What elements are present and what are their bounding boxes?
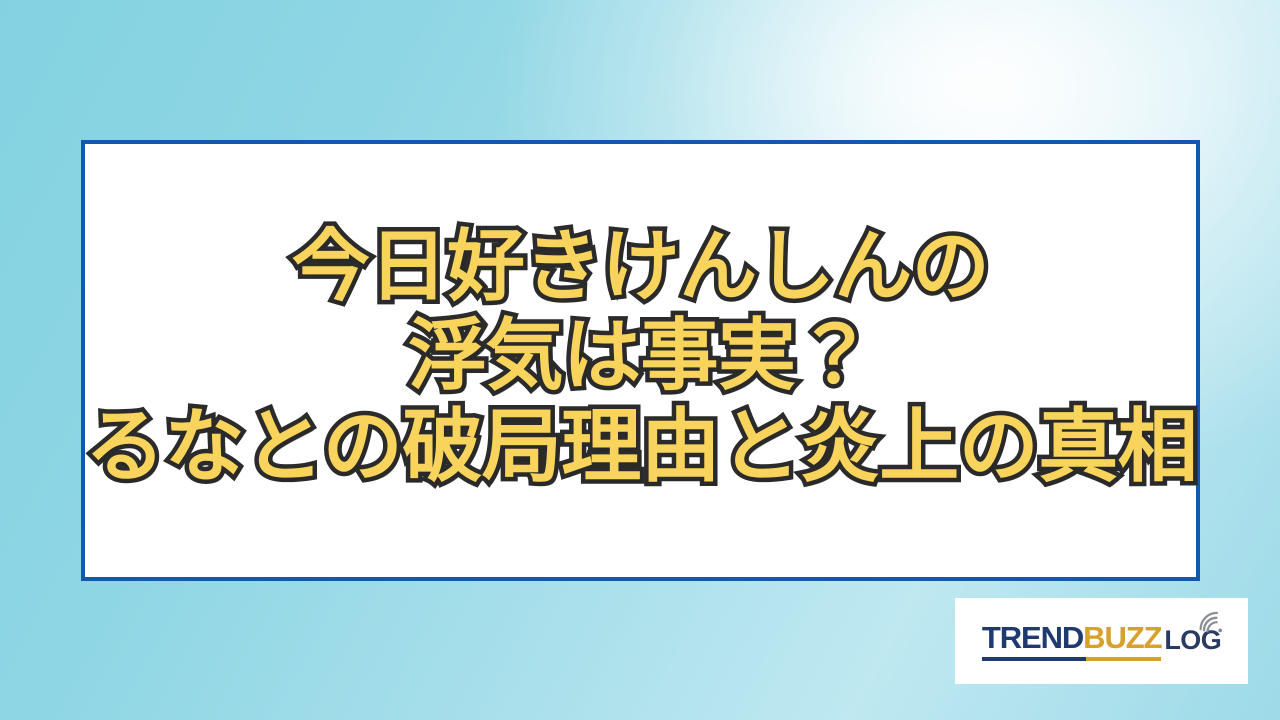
logo-wordmark-group: TRENDBUZZ: [982, 622, 1162, 661]
logo-wordmark: TRENDBUZZ: [982, 622, 1162, 653]
logo-underline-navy: [982, 657, 1086, 661]
page-title: 今日好きけんしんの 浮気は事実？ るなとの破局理由と炎上の真相: [85, 223, 1196, 498]
thumbnail-canvas: 今日好きけんしんの 浮気は事実？ るなとの破局理由と炎上の真相 TRENDBUZ…: [0, 0, 1280, 720]
wifi-signal-icon: [1198, 607, 1228, 633]
signal-dot: [1218, 628, 1222, 632]
logo-word-trend: TREND: [982, 620, 1083, 655]
logo-inner: TRENDBUZZ LOG: [978, 622, 1225, 661]
title-card: 今日好きけんしんの 浮気は事実？ るなとの破局理由と炎上の真相: [81, 140, 1200, 581]
brand-logo[interactable]: TRENDBUZZ LOG: [955, 598, 1248, 684]
logo-underline-rule: [982, 657, 1162, 661]
logo-underline-gold: [1086, 657, 1161, 661]
title-line-3: るなとの破局理由と炎上の真相: [85, 401, 1196, 492]
title-line-1: 今日好きけんしんの: [85, 223, 1196, 312]
logo-word-buzz: BUZZ: [1083, 620, 1161, 655]
title-line-2: 浮気は事実？: [85, 312, 1196, 401]
